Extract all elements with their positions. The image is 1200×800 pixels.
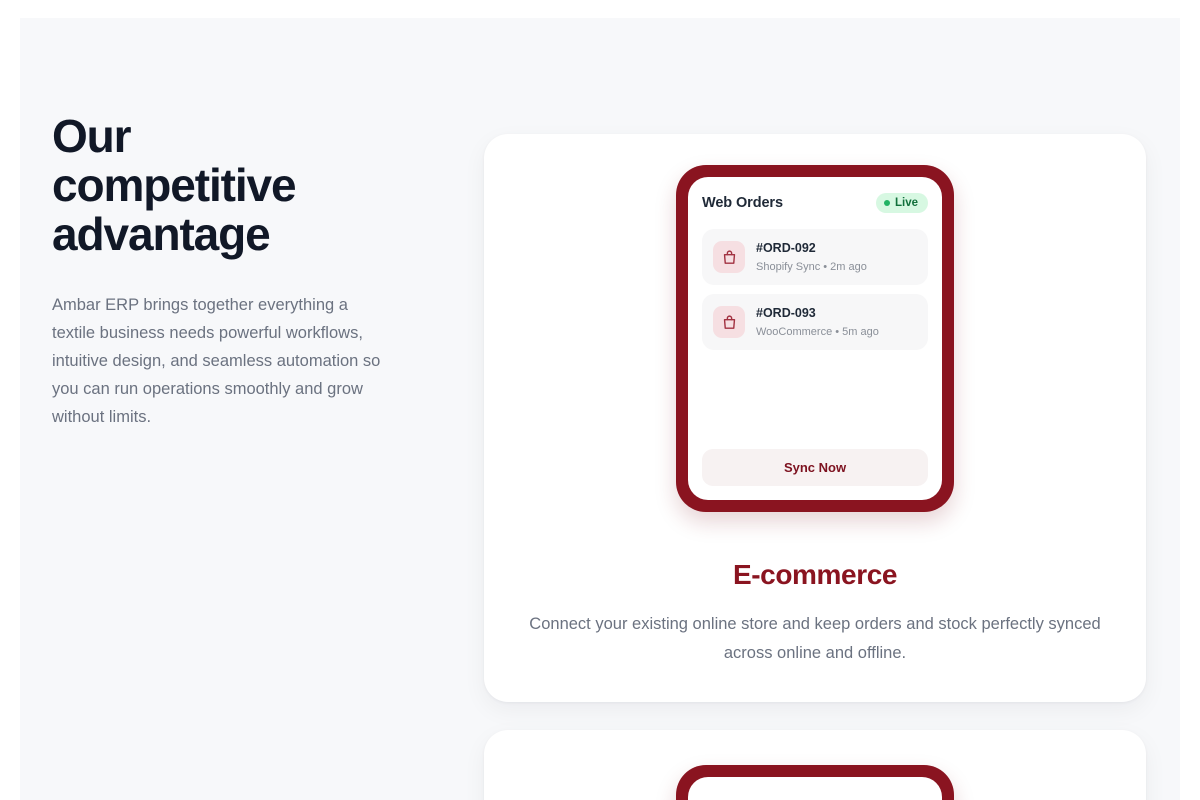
status-badge-label: Live (895, 197, 918, 209)
order-id: #ORD-093 (756, 306, 816, 320)
status-badge: Live (876, 193, 928, 213)
card-title: E-commerce (526, 558, 1104, 592)
sync-now-button[interactable]: Sync Now (702, 449, 928, 486)
feature-card-ecommerce: Web Orders Live (484, 134, 1146, 702)
screen-spacer (702, 359, 928, 449)
hero-text-column: Our competitive advantage Ambar ERP brin… (52, 112, 447, 431)
shopping-bag-icon (713, 241, 745, 273)
phone-screen: Welcome back, (688, 777, 942, 800)
order-details: #ORD-092 Shopify Sync • 2m ago (756, 239, 917, 275)
phone-mockup: Welcome back, (676, 765, 954, 800)
feature-card-column: Web Orders Live (484, 18, 1146, 800)
status-dot-icon (884, 200, 890, 206)
page-root: Our competitive advantage Ambar ERP brin… (20, 18, 1180, 800)
screen-header: Web Orders Live (702, 193, 928, 213)
screen-title: Web Orders (702, 195, 783, 211)
order-list-item[interactable]: #ORD-093 WooCommerce • 5m ago (702, 294, 928, 350)
order-meta: Shopify Sync • 2m ago (756, 261, 867, 273)
card-caption: E-commerce Connect your existing online … (484, 558, 1146, 668)
shopping-bag-icon (713, 306, 745, 338)
phone-screen: Web Orders Live (688, 177, 942, 500)
order-meta: WooCommerce • 5m ago (756, 326, 879, 338)
page-title: Our competitive advantage (52, 112, 382, 259)
order-list-item[interactable]: #ORD-092 Shopify Sync • 2m ago (702, 229, 928, 285)
card-description: Connect your existing online store and k… (526, 610, 1104, 668)
phone-mockup: Web Orders Live (676, 165, 954, 512)
order-id: #ORD-092 (756, 241, 816, 255)
hero-description: Ambar ERP brings together everything a t… (52, 291, 392, 431)
feature-card-next: Welcome back, (484, 730, 1146, 800)
order-details: #ORD-093 WooCommerce • 5m ago (756, 304, 917, 340)
